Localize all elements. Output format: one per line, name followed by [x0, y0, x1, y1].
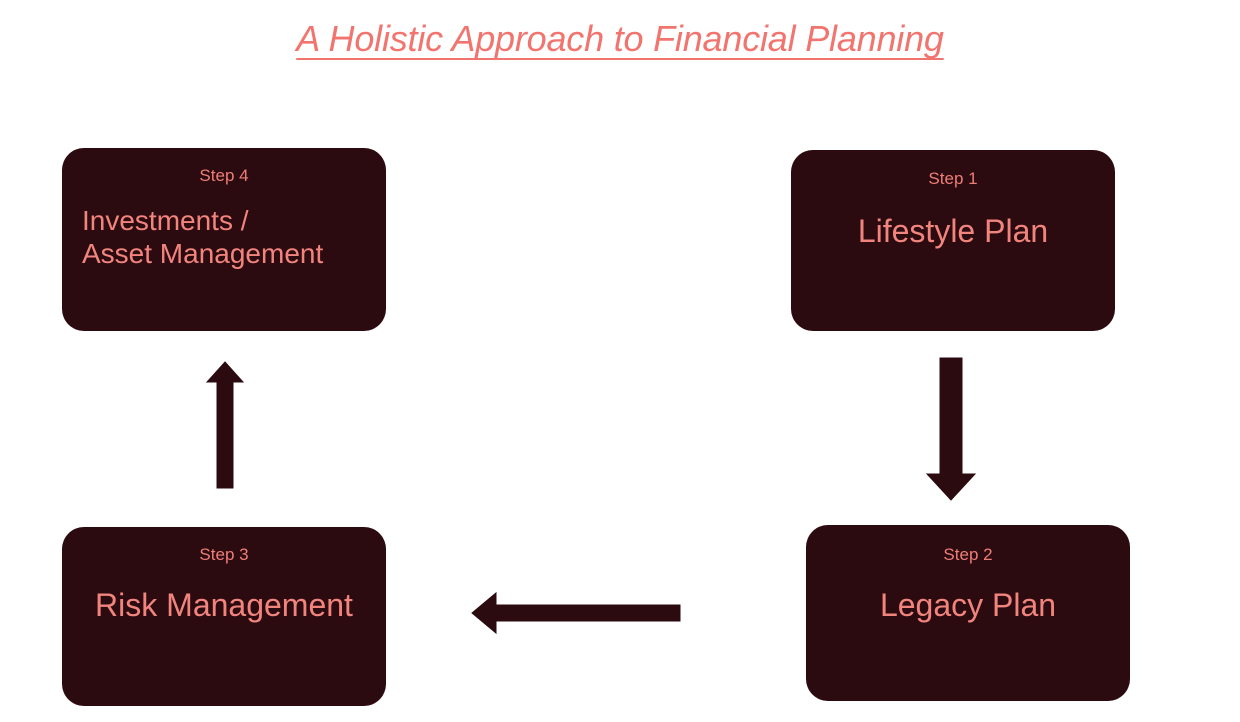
page-title: A Holistic Approach to Financial Plannin…: [0, 18, 1240, 60]
step-label-step4: Step 4: [199, 167, 248, 184]
step-box-step4[interactable]: Step 4 Investments / Asset Management: [62, 148, 386, 331]
arrow-up-icon: [203, 360, 247, 490]
arrow-left-icon: [466, 588, 686, 638]
step-title-step1: Lifestyle Plan: [858, 213, 1048, 251]
step-label-step2: Step 2: [943, 546, 992, 563]
diagram-canvas: A Holistic Approach to Financial Plannin…: [0, 0, 1240, 722]
step-box-step2[interactable]: Step 2 Legacy Plan: [806, 525, 1130, 701]
step-title-step2: Legacy Plan: [880, 587, 1056, 625]
step-box-step1[interactable]: Step 1 Lifestyle Plan: [791, 150, 1115, 331]
step-title-step4: Investments / Asset Management: [62, 204, 323, 270]
step-label-step1: Step 1: [928, 170, 977, 187]
step-title-step3: Risk Management: [95, 587, 353, 625]
step-box-step3[interactable]: Step 3 Risk Management: [62, 527, 386, 706]
step-label-step3: Step 3: [199, 546, 248, 563]
arrow-down-icon: [922, 356, 980, 502]
